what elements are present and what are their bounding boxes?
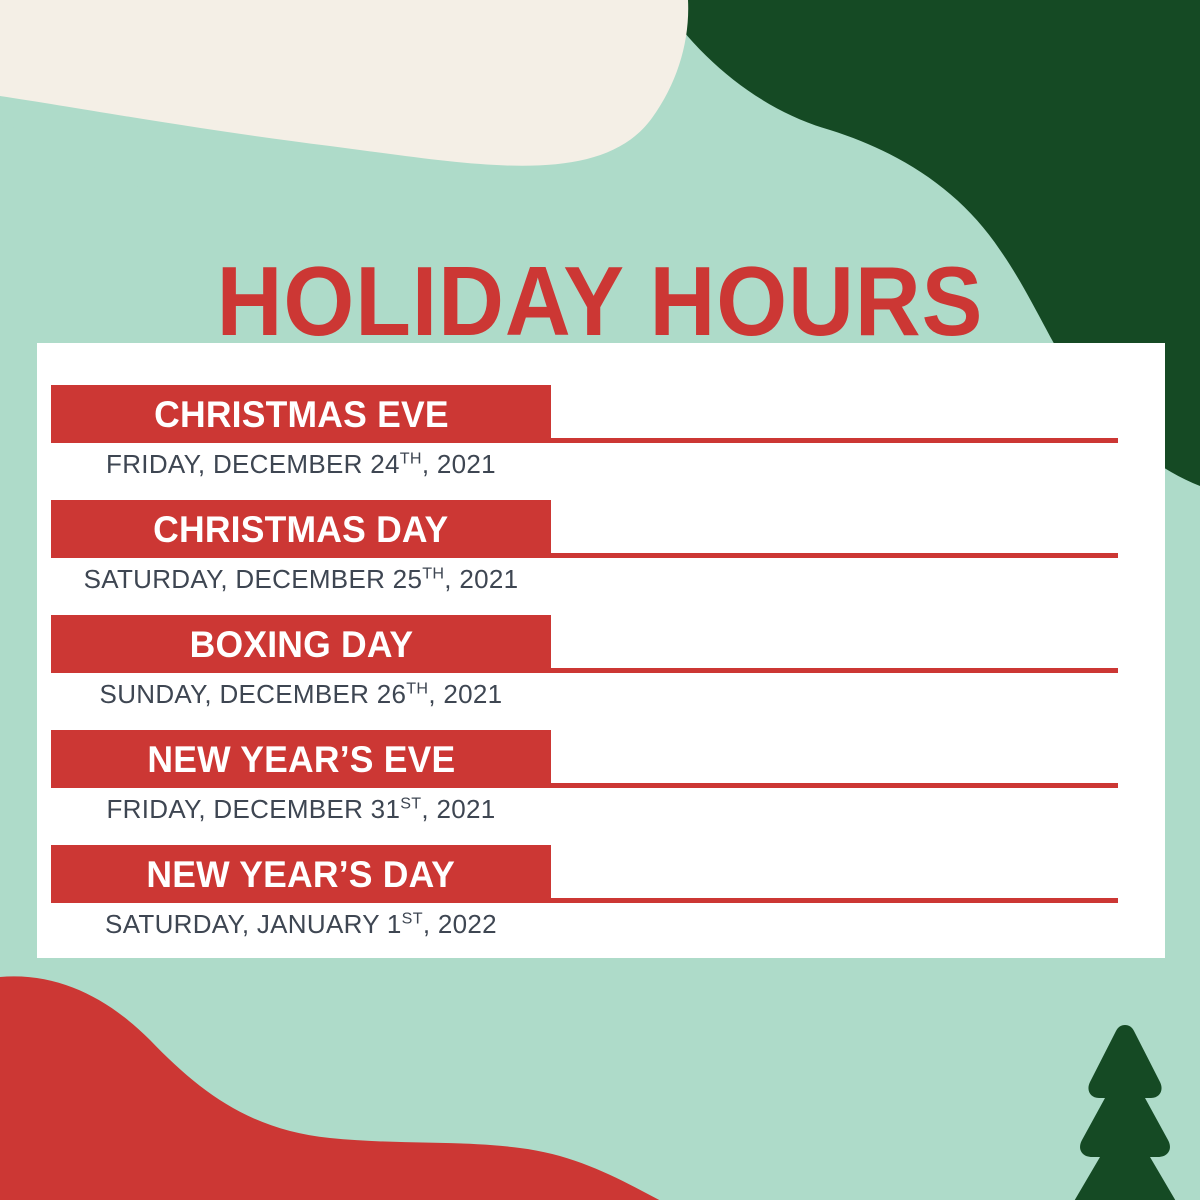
holiday-name-label: CHRISTMAS EVE [154, 396, 449, 433]
hours-entry-line[interactable] [551, 438, 1118, 443]
holiday-date: SATURDAY, DECEMBER 25TH, 2021 [51, 563, 551, 596]
hours-entry-line[interactable] [551, 668, 1118, 673]
holiday-date: SATURDAY, JANUARY 1ST, 2022 [51, 908, 551, 941]
holiday-name-banner: NEW YEAR’S DAY [51, 845, 551, 903]
holiday-name-banner: CHRISTMAS EVE [51, 385, 551, 443]
holiday-date-ordinal: TH [400, 449, 422, 467]
holiday-name-label: NEW YEAR’S DAY [147, 856, 456, 893]
holiday-date-main: SATURDAY, JANUARY 1 [105, 909, 402, 939]
holiday-date-year: , 2022 [423, 909, 497, 939]
page-title: HOLIDAY HOURS [42, 252, 1158, 350]
holiday-date-main: SUNDAY, DECEMBER 26 [100, 679, 407, 709]
holiday-date: SUNDAY, DECEMBER 26TH, 2021 [51, 678, 551, 711]
holiday-name-banner: CHRISTMAS DAY [51, 500, 551, 558]
holiday-date-year: , 2021 [422, 449, 496, 479]
holiday-date: FRIDAY, DECEMBER 24TH, 2021 [51, 448, 551, 481]
schedule-row: CHRISTMAS EVE FRIDAY, DECEMBER 24TH, 202… [37, 385, 1165, 500]
holiday-date-year: , 2021 [444, 564, 518, 594]
holiday-date-year: , 2021 [428, 679, 502, 709]
schedule-row: BOXING DAY SUNDAY, DECEMBER 26TH, 2021 [37, 615, 1165, 730]
schedule-row: CHRISTMAS DAY SATURDAY, DECEMBER 25TH, 2… [37, 500, 1165, 615]
holiday-date-year: , 2021 [421, 794, 495, 824]
schedule-card: CHRISTMAS EVE FRIDAY, DECEMBER 24TH, 202… [37, 343, 1165, 958]
schedule-row: NEW YEAR’S DAY SATURDAY, JANUARY 1ST, 20… [37, 845, 1165, 960]
holiday-date: FRIDAY, DECEMBER 31ST, 2021 [51, 793, 551, 826]
holiday-date-ordinal: ST [402, 909, 423, 927]
holiday-date-main: FRIDAY, DECEMBER 24 [106, 449, 400, 479]
holiday-date-ordinal: TH [406, 679, 428, 697]
holiday-name-banner: NEW YEAR’S EVE [51, 730, 551, 788]
holiday-name-label: NEW YEAR’S EVE [147, 741, 455, 778]
holiday-date-main: SATURDAY, DECEMBER 25 [84, 564, 423, 594]
schedule-row: NEW YEAR’S EVE FRIDAY, DECEMBER 31ST, 20… [37, 730, 1165, 845]
hours-entry-line[interactable] [551, 553, 1118, 558]
holiday-date-ordinal: TH [422, 564, 444, 582]
hours-entry-line[interactable] [551, 898, 1118, 903]
holiday-hours-poster: HOLIDAY HOURS CHRISTMAS EVE FRIDAY, DECE… [0, 0, 1200, 1200]
holiday-name-label: BOXING DAY [189, 626, 413, 663]
holiday-name-banner: BOXING DAY [51, 615, 551, 673]
holiday-date-ordinal: ST [400, 794, 421, 812]
holiday-name-label: CHRISTMAS DAY [153, 511, 448, 548]
holiday-date-main: FRIDAY, DECEMBER 31 [107, 794, 401, 824]
hours-entry-line[interactable] [551, 783, 1118, 788]
